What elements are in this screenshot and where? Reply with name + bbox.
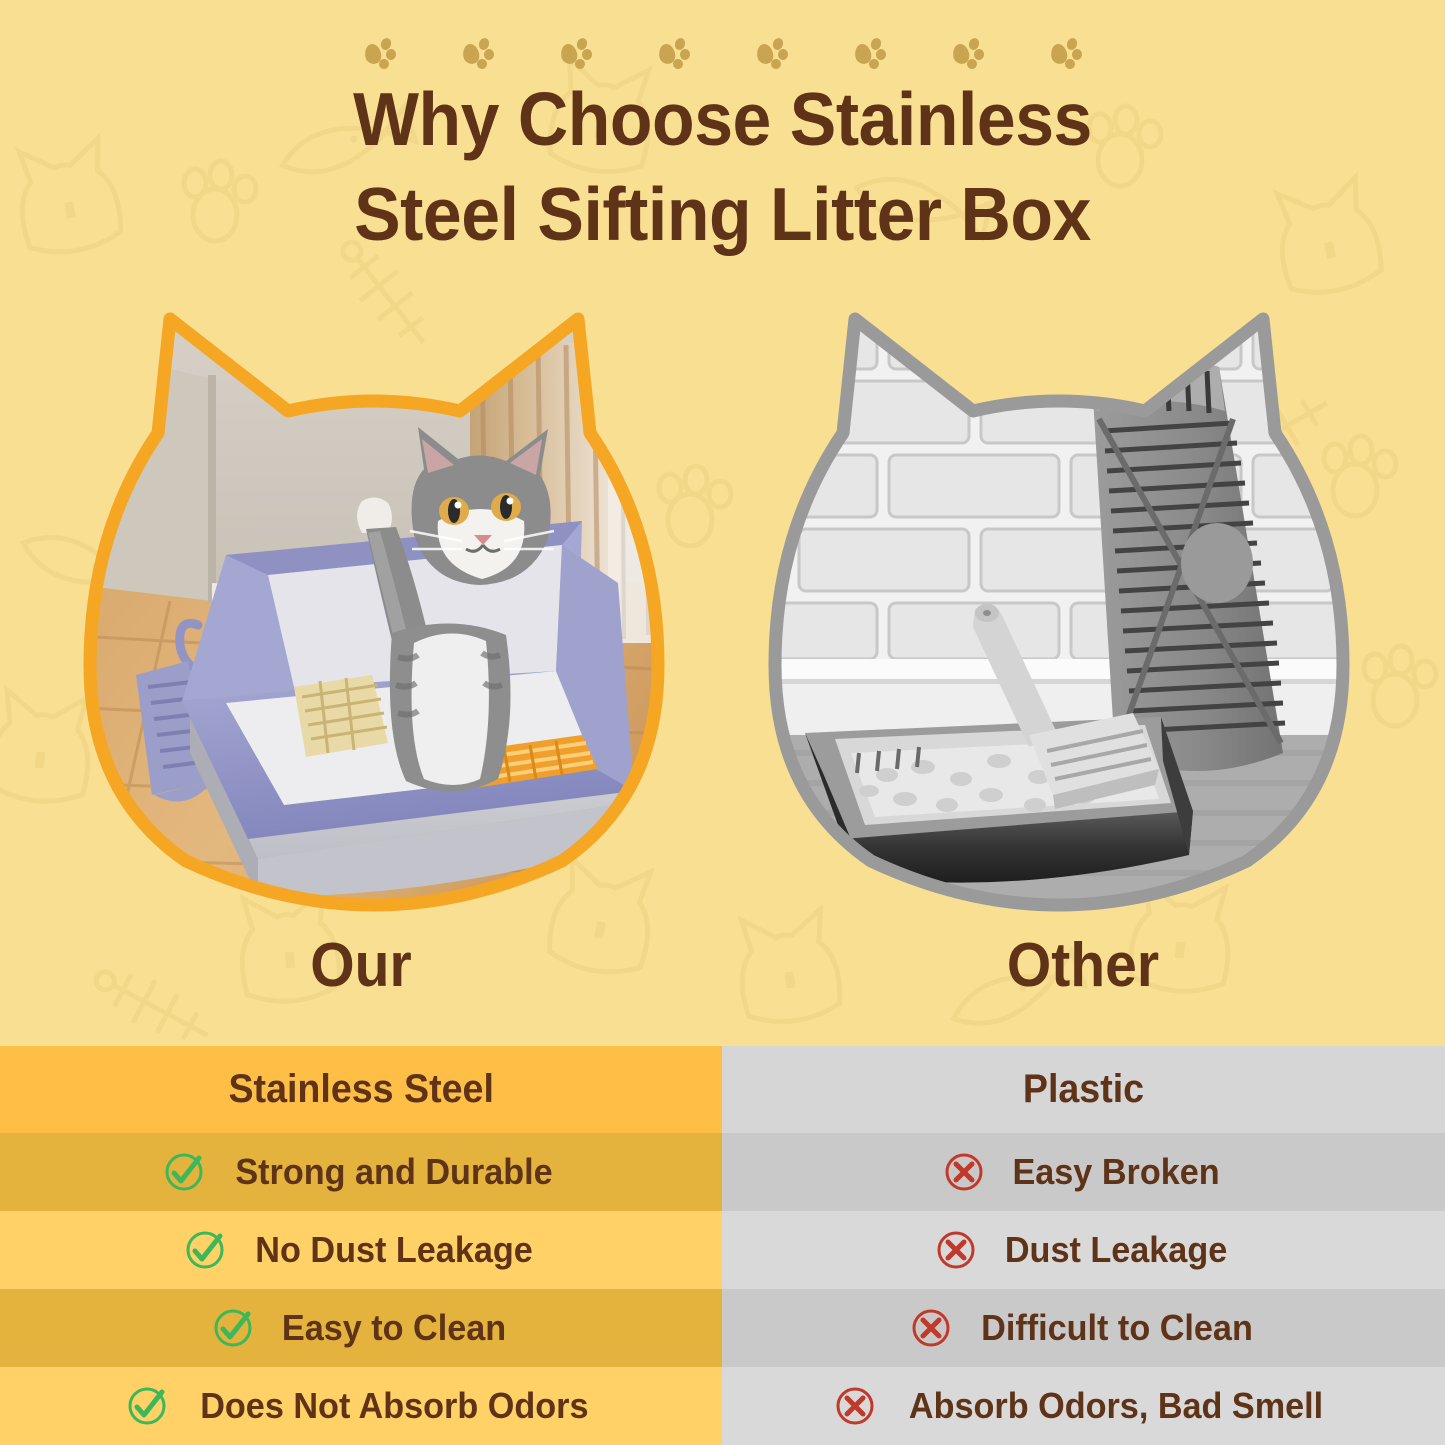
- row-cell-our: No Dust Leakage: [0, 1211, 722, 1289]
- table-row: Easy to Clean Difficult to Clean: [0, 1289, 1445, 1367]
- table-row: Strong and Durable Easy Broken: [0, 1133, 1445, 1211]
- row-label-our: Does Not Absorb Odors: [200, 1385, 588, 1427]
- paw-print-icon: [855, 36, 885, 70]
- row-label-other: Dust Leakage: [1005, 1229, 1227, 1271]
- check-icon: [161, 1149, 207, 1195]
- caption-other: Other: [751, 930, 1415, 1001]
- row-cell-other: Absorb Odors, Bad Smell: [722, 1367, 1445, 1445]
- comparison-table: Stainless Steel Plastic Strong and Durab…: [0, 1046, 1445, 1445]
- paw-print-icon: [1051, 36, 1081, 70]
- page-title-line-2: Steel Sifting Litter Box: [51, 167, 1395, 262]
- row-cell-other: Difficult to Clean: [722, 1289, 1445, 1367]
- cross-icon: [908, 1305, 954, 1351]
- table-row: No Dust Leakage Dust Leakage: [0, 1211, 1445, 1289]
- comparison-table-header: Stainless Steel Plastic: [0, 1046, 1445, 1133]
- row-label-our: No Dust Leakage: [255, 1229, 532, 1271]
- check-icon: [210, 1305, 256, 1351]
- header-cell-stainless-steel: Stainless Steel: [0, 1046, 722, 1133]
- cross-icon: [933, 1227, 979, 1273]
- row-label-other: Easy Broken: [1013, 1151, 1220, 1193]
- paw-print-strip: [0, 36, 1445, 76]
- row-cell-our: Easy to Clean: [0, 1289, 722, 1367]
- product-photo-row: [0, 283, 1445, 908]
- cross-icon: [832, 1383, 878, 1429]
- page-title: Why Choose Stainless Steel Sifting Litte…: [51, 72, 1395, 263]
- header-label-plastic: Plastic: [1023, 1067, 1144, 1112]
- check-icon: [182, 1227, 228, 1273]
- column-caption-row: Our Other: [0, 930, 1445, 1030]
- paw-print-icon: [561, 36, 591, 70]
- paw-print-icon: [365, 36, 395, 70]
- row-cell-other: Easy Broken: [722, 1133, 1445, 1211]
- row-label-our: Strong and Durable: [235, 1151, 552, 1193]
- paw-print-icon: [463, 36, 493, 70]
- table-row: Does Not Absorb Odors Absorb Odors, Bad …: [0, 1367, 1445, 1445]
- page-title-line-1: Why Choose Stainless: [353, 77, 1092, 161]
- paw-print-icon: [757, 36, 787, 70]
- our-litter-pile: [294, 675, 388, 757]
- row-cell-our: Strong and Durable: [0, 1133, 722, 1211]
- row-cell-our: Does Not Absorb Odors: [0, 1367, 722, 1445]
- row-label-our: Easy to Clean: [282, 1307, 506, 1349]
- paw-print-icon: [953, 36, 983, 70]
- row-label-other: Absorb Odors, Bad Smell: [909, 1385, 1323, 1427]
- row-cell-other: Dust Leakage: [722, 1211, 1445, 1289]
- product-photo-other: [747, 283, 1372, 908]
- caption-our: Our: [29, 930, 693, 1001]
- header-label-stainless-steel: Stainless Steel: [228, 1067, 493, 1112]
- paw-print-icon: [659, 36, 689, 70]
- check-icon: [124, 1383, 170, 1429]
- our-photo-content: [62, 283, 688, 908]
- product-photo-our: [62, 283, 687, 908]
- infographic-page: Why Choose Stainless Steel Sifting Litte…: [0, 0, 1445, 1445]
- header-cell-plastic: Plastic: [722, 1046, 1445, 1133]
- cross-icon: [941, 1149, 987, 1195]
- row-label-other: Difficult to Clean: [981, 1307, 1253, 1349]
